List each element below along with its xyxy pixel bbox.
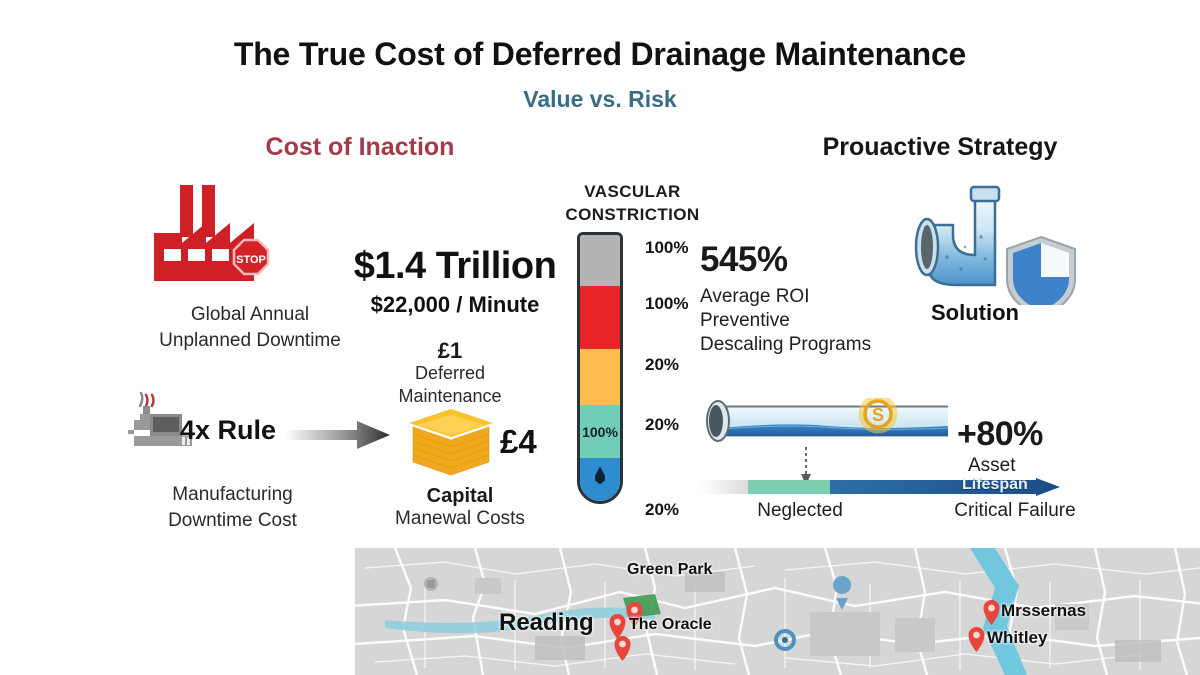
page-title: The True Cost of Deferred Drainage Maint… (0, 36, 1200, 73)
red-pin[interactable] (982, 600, 1001, 625)
horizontal-pipe-dollar-icon: S (698, 398, 960, 446)
capital-caption-line2: Manewal Costs (370, 508, 550, 530)
lifespan-gain-value: +80% (957, 415, 1043, 454)
svg-text:STOP: STOP (236, 254, 266, 266)
tube-tick-1: 100% (645, 294, 705, 314)
factory-caption-line2: Unplanned Downtime (110, 328, 390, 354)
roi-line2: Preventive (700, 309, 930, 333)
tube-title-line1: VASCULAR (540, 180, 725, 203)
factory-stop-icon: STOP (150, 185, 300, 295)
tube-segment-red (580, 286, 620, 350)
capital-caption-line1: Capital (380, 485, 540, 508)
tube-title: VASCULAR CONSTRICTION (540, 180, 725, 226)
roi-description: Average ROI Preventive Descaling Program… (700, 285, 930, 357)
deferred-caption: Deferred Maintenance (375, 362, 525, 408)
bar-label-critical-failure: Critical Failure (935, 500, 1095, 522)
tube-segment-gray (580, 235, 620, 286)
map-label-whitley: Whitley (987, 628, 1047, 648)
roi-line1: Average ROI (700, 285, 930, 309)
tube-segment-orange (580, 349, 620, 405)
reading-location-map[interactable]: Reading Green Park The Oracle (355, 548, 1200, 675)
roi-value: 545% (700, 240, 788, 280)
bar-label-neglected: Neglected (740, 500, 860, 522)
svg-text:S: S (872, 405, 884, 425)
vascular-constriction-tube: 100% (577, 232, 623, 504)
lifespan-label: Lifespan (962, 476, 1028, 494)
section-heading-cost-of-inaction: Cost of Inaction (190, 133, 530, 162)
deferred-caption-line1: Deferred (375, 362, 525, 385)
mfg-caption-line2: Downtime Cost (110, 508, 355, 534)
tube-tick-2: 20% (645, 355, 705, 375)
roi-line3: Descaling Programs (700, 333, 930, 357)
page-subtitle: Value vs. Risk (0, 86, 1200, 113)
tube-inner-label: 100% (580, 424, 620, 440)
sub-stat: $22,000 / Minute (340, 292, 570, 318)
capital-renewal-value: £4 (500, 423, 537, 461)
tube-tick-0: 100% (645, 238, 705, 258)
right-arrow-icon (285, 420, 390, 450)
manufacturing-caption: Manufacturing Downtime Cost (110, 482, 355, 534)
four-x-rule-label: 4x Rule (180, 415, 276, 446)
red-pin[interactable] (613, 636, 632, 661)
map-label-green-park: Green Park (627, 561, 712, 579)
headline-stat: $1.4 Trillion (340, 245, 570, 288)
tube-segment-blue (580, 458, 620, 501)
deferred-value: £1 (385, 338, 515, 364)
map-city-label: Reading (499, 609, 594, 637)
map-label-the-oracle: The Oracle (629, 616, 712, 634)
asset-label: Asset (968, 455, 1016, 477)
map-label-mrssernas: Mrssernas (1001, 601, 1086, 621)
red-pin[interactable] (967, 627, 986, 652)
gold-coin-stack-icon (405, 407, 497, 482)
tube-tick-4: 20% (645, 500, 705, 520)
water-droplet-icon (594, 466, 607, 484)
section-heading-proactive-strategy: Prouactive Strategy (690, 133, 1190, 162)
mfg-caption-line1: Manufacturing (110, 482, 355, 508)
tube-title-line2: CONSTRICTION (540, 203, 725, 226)
tube-tick-3: 20% (645, 415, 705, 435)
infographic-canvas: The True Cost of Deferred Drainage Maint… (0, 0, 1200, 675)
deferred-caption-line2: Maintenance (375, 385, 525, 408)
tube-segment-teal: 100% (580, 405, 620, 458)
